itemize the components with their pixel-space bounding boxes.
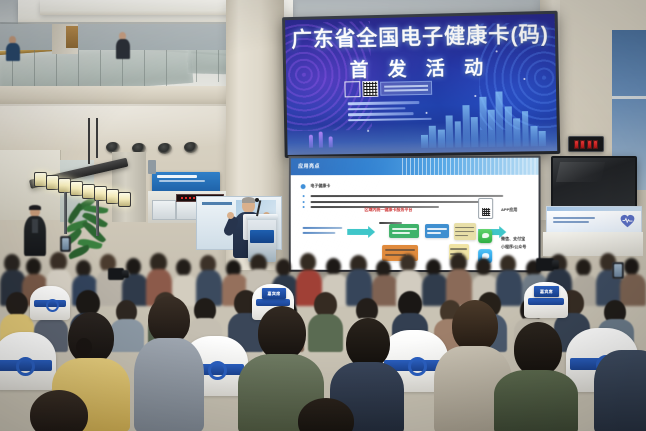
slide-header-label: 应用亮点 — [298, 163, 320, 170]
slide-phone-icon — [479, 198, 494, 219]
balcony-person — [115, 32, 131, 58]
downlight-3 — [158, 143, 172, 154]
seat-sign-label: 嘉宾席 — [268, 291, 281, 297]
led-banner-screen: 广东省全国电子健康卡(码) 首 发 活 动 — [282, 11, 560, 158]
clock-digit — [580, 140, 585, 149]
raised-phone — [60, 236, 71, 252]
banner-subtitle: 首 发 活 动 — [286, 51, 556, 83]
counter-window-1 — [152, 200, 176, 220]
speaker-hair — [242, 197, 255, 203]
stage-light-rig — [30, 152, 150, 212]
slide-bullet-heading: 电子健康卡 — [310, 183, 330, 189]
banner-organizer-lines — [348, 101, 432, 124]
slide-app-caption: APP应用 — [501, 207, 517, 213]
qr-code-icon — [363, 80, 379, 96]
clock-digit — [587, 140, 592, 149]
rig-lamp — [118, 192, 131, 207]
chair-sash — [528, 298, 564, 305]
cable-hanging — [88, 118, 90, 164]
rig-stand-2 — [96, 200, 99, 236]
camera-2 — [108, 268, 124, 280]
registration-signboard — [152, 172, 220, 192]
chair-sash-knot — [408, 357, 427, 376]
seat-reserved-sign[interactable]: 嘉宾席 — [262, 288, 286, 299]
slide-header-bar: 应用亮点 — [291, 158, 539, 175]
downlight-4 — [184, 142, 198, 153]
clock-digit — [593, 140, 598, 149]
notice-board — [66, 26, 78, 48]
audience-person-front — [494, 322, 578, 431]
chair-sash-knot — [46, 299, 59, 312]
wall-curve-shadow — [0, 104, 250, 152]
audience-person-front — [134, 296, 204, 431]
event-photograph: 广东省全国电子健康卡(码) 首 发 活 动 — [0, 0, 646, 431]
chair-sash — [256, 299, 290, 306]
balcony-person-2 — [6, 36, 21, 60]
audience-person-front — [0, 390, 120, 431]
audience-person-front — [594, 306, 646, 431]
audience-person-front — [272, 398, 382, 431]
microphone-head — [255, 198, 259, 202]
health-card-icon — [345, 81, 361, 97]
slide-bullet-icon — [301, 184, 306, 189]
wall-soffit — [0, 86, 250, 106]
cable-hanging-2 — [96, 118, 98, 158]
wall-tv-monitor — [551, 156, 637, 208]
seat-reserved-sign[interactable]: 嘉宾席 — [534, 286, 559, 297]
health-info-wallboard — [546, 206, 642, 234]
camera — [536, 258, 554, 271]
chair-sash-knot — [16, 357, 35, 376]
heart-logo-icon — [620, 214, 635, 228]
slide-arrow-1 — [347, 229, 369, 235]
right-window-mullion — [612, 96, 646, 99]
clock-digit — [574, 140, 579, 149]
seat-sign-label: 嘉宾席 — [540, 289, 553, 295]
wallboard-text-lines — [553, 217, 595, 226]
chair-sash-knot — [208, 361, 227, 380]
slide-diagram-title: 区域内统一健康卡服务平台 — [365, 207, 413, 213]
rig-stand — [64, 192, 67, 234]
banner-wave-graphic — [287, 121, 557, 155]
raised-phone — [612, 262, 624, 279]
led-clock-display — [568, 136, 604, 152]
speaker-hand-left — [227, 212, 234, 219]
